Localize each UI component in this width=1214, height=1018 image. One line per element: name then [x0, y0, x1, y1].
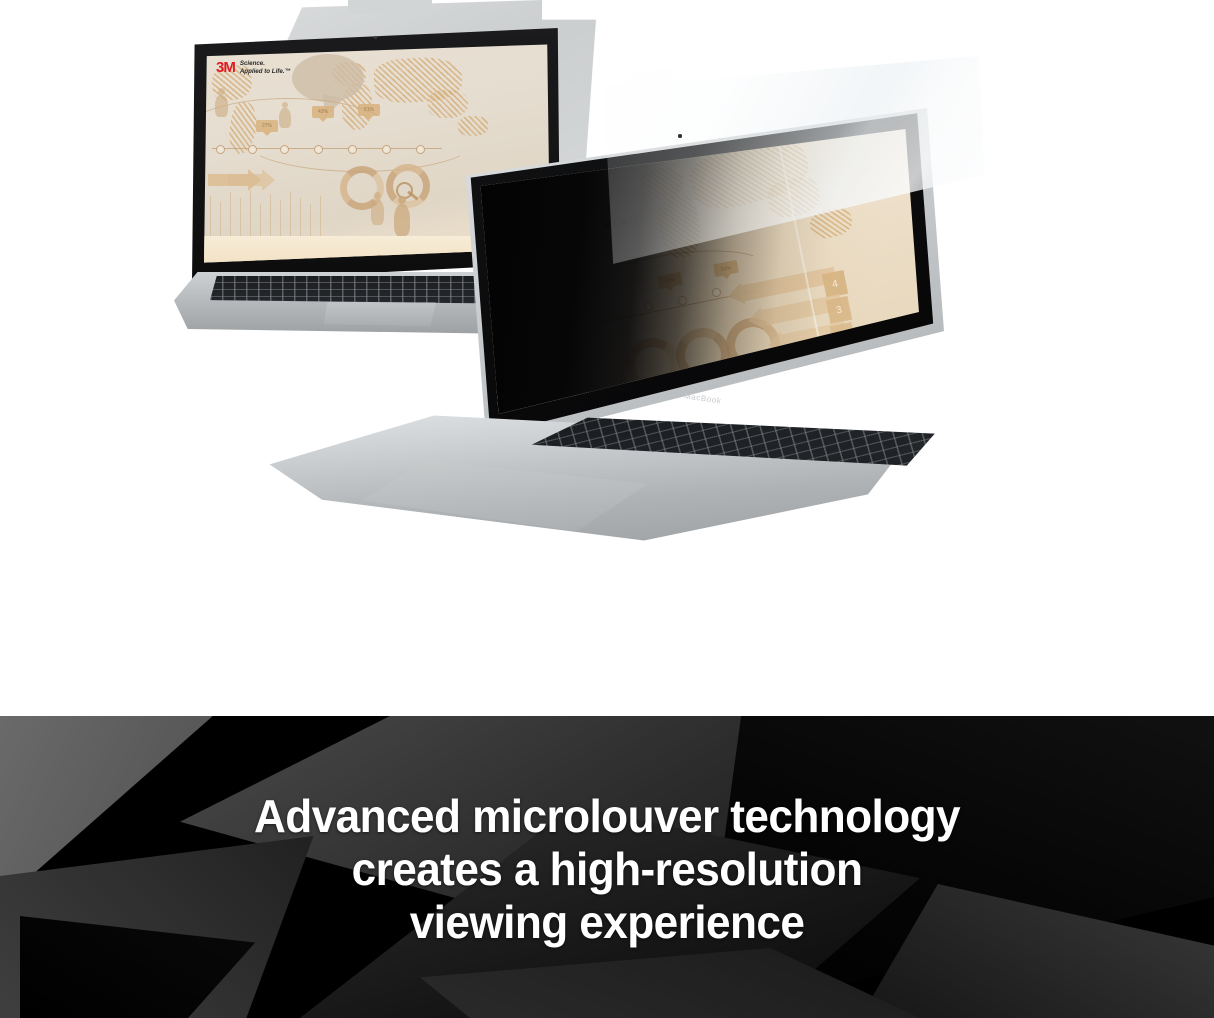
person-silhouette — [371, 199, 384, 225]
caption-panel: Advanced microlouver technology creates … — [0, 716, 1214, 1018]
rear-trackpad — [324, 302, 436, 326]
footer-chips — [666, 404, 755, 412]
timeline-dot — [248, 145, 257, 154]
product-image: 3M Science. Applied to Life.™ 27% 43% 51… — [0, 0, 1214, 1018]
timeline-dot — [382, 145, 391, 154]
person-head — [374, 192, 381, 199]
person-silhouette — [394, 204, 410, 236]
person-head — [218, 88, 225, 95]
timeline-dot — [314, 145, 323, 154]
3m-tagline: Science. Applied to Life.™ — [240, 60, 291, 77]
rear-privacy-filter-tab — [348, 0, 432, 14]
person-head — [398, 196, 406, 204]
3m-tagline-line2: Applied to Life.™ — [240, 68, 291, 75]
timeline-dot — [348, 145, 357, 154]
timeline-dot — [216, 145, 225, 154]
person-silhouette — [215, 95, 228, 117]
timeline-axis — [212, 148, 442, 149]
3m-tagline-line1: Science. — [240, 60, 265, 67]
front-macbook-label: MacBook — [684, 391, 722, 405]
caption-text: Advanced microlouver technology creates … — [24, 790, 1189, 949]
front-webcam-dot — [678, 134, 682, 138]
person-silhouette — [279, 108, 291, 128]
timeline-dot — [416, 145, 425, 154]
timeline-dot — [280, 145, 289, 154]
3m-wordmark: 3M — [216, 60, 235, 75]
product-photo-area: 3M Science. Applied to Life.™ 27% 43% 51… — [0, 0, 1214, 716]
rear-webcam-dot — [374, 36, 377, 39]
arrow-number-3: 3 — [826, 296, 852, 324]
front-laptop: to Life.™ 43% 51% — [452, 56, 1012, 576]
3m-logo: 3M Science. Applied to Life.™ — [216, 60, 291, 77]
arrow-number-4: 4 — [822, 270, 848, 298]
